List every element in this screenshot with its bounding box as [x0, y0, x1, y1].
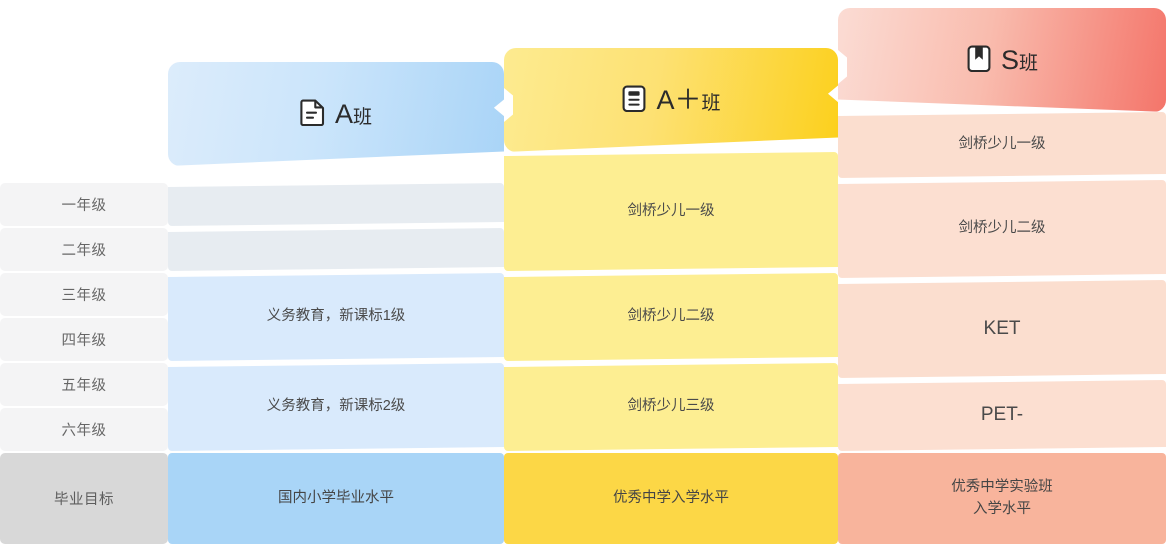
grade-label-text: 一年级: [62, 194, 107, 215]
cell-text: 优秀中学入学水平: [613, 488, 729, 510]
cell-text: 剑桥少儿一级: [959, 134, 1046, 156]
grade-label-cell: 五年级: [0, 363, 168, 406]
cell-s-goal[interactable]: 优秀中学实验班 入学水平: [838, 453, 1166, 544]
column-a[interactable]: A班 义务教育，新课标1级 义务教育，新课标2级 国内小学毕业水平: [168, 0, 504, 544]
column-a-title: A班: [335, 101, 372, 128]
cell-s-grade1[interactable]: 剑桥少儿一级: [838, 112, 1166, 178]
grade-label-text: 二年级: [62, 239, 107, 260]
grade-label-text: 三年级: [62, 284, 107, 305]
grade-label-text: 五年级: [62, 374, 107, 395]
cell-s-grade5[interactable]: PET-: [838, 380, 1166, 451]
grade-label-cell: 二年级: [0, 228, 168, 271]
cell-text: 国内小学毕业水平: [278, 488, 394, 510]
column-a-header[interactable]: A班: [168, 62, 504, 166]
column-a-plus-title: A＋班: [656, 87, 720, 114]
column-a-plus-header[interactable]: A＋班: [504, 48, 838, 152]
grade-label-text: 六年级: [62, 419, 107, 440]
cell-text: 剑桥少儿三级: [628, 396, 715, 418]
grade-label-text: 毕业目标: [54, 488, 114, 509]
column-s-header[interactable]: S班: [838, 8, 1166, 112]
grade-label-cell: 三年级: [0, 273, 168, 316]
cell-ap-grade34[interactable]: 剑桥少儿二级: [504, 273, 838, 361]
cell-ap-grade56[interactable]: 剑桥少儿三级: [504, 363, 838, 451]
column-s[interactable]: S班 剑桥少儿一级 剑桥少儿二级 KET PET- 优秀中学实验班 入学水平: [838, 0, 1166, 544]
course-level-comparison-table: 一年级 二年级 三年级 四年级 五年级 六年级 毕业目标: [0, 0, 1166, 544]
grade-label-text: 四年级: [62, 329, 107, 350]
document-icon: [300, 98, 326, 131]
cell-text: 剑桥少儿二级: [628, 306, 715, 328]
cell-a-grade34[interactable]: 义务教育，新课标1级: [168, 273, 504, 361]
cell-s-grade4[interactable]: KET: [838, 280, 1166, 378]
cell-text: 义务教育，新课标2级: [267, 396, 406, 418]
grade-label-cell: 六年级: [0, 408, 168, 451]
column-a-plus[interactable]: A＋班 剑桥少儿一级 剑桥少儿二级 剑桥少儿三级 优秀中学入学水平: [504, 0, 838, 544]
cell-text: 优秀中学实验班 入学水平: [951, 477, 1053, 521]
cell-a-goal[interactable]: 国内小学毕业水平: [168, 453, 504, 544]
bookmark-icon: [966, 44, 992, 77]
notebook-icon: [621, 84, 647, 117]
cell-s-grade23[interactable]: 剑桥少儿二级: [838, 180, 1166, 278]
cell-text: 剑桥少儿一级: [628, 201, 715, 223]
cell-text: KET: [984, 315, 1021, 344]
grade-label-cell: 四年级: [0, 318, 168, 361]
cell-ap-grade12[interactable]: 剑桥少儿一级: [504, 152, 838, 271]
grade-label-cell: 一年级: [0, 183, 168, 226]
cell-text: 义务教育，新课标1级: [267, 306, 406, 328]
cell-text: 剑桥少儿二级: [959, 218, 1046, 240]
cell-ap-goal[interactable]: 优秀中学入学水平: [504, 453, 838, 544]
cell-a-grade56[interactable]: 义务教育，新课标2级: [168, 363, 504, 451]
column-s-title: S班: [1001, 47, 1038, 74]
cell-a-grade1[interactable]: [168, 183, 504, 226]
cell-text: PET-: [981, 401, 1023, 430]
cell-a-grade2[interactable]: [168, 228, 504, 271]
grade-label-cell-goal: 毕业目标: [0, 453, 168, 544]
grade-label-column: 一年级 二年级 三年级 四年级 五年级 六年级 毕业目标: [0, 0, 168, 544]
